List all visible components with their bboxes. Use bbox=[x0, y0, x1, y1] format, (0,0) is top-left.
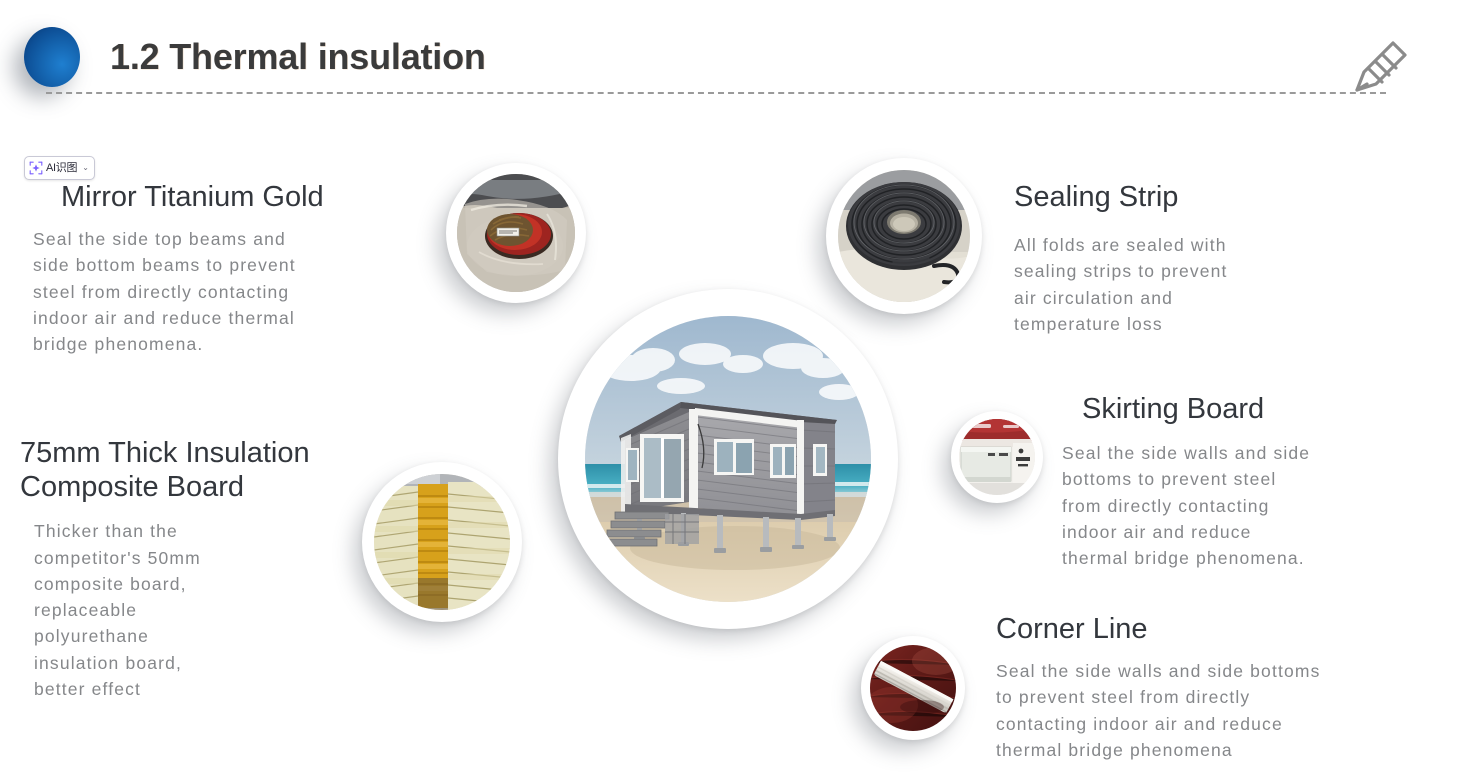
ai-sparkle-icon bbox=[29, 161, 43, 175]
chevron-down-icon[interactable]: ⌄ bbox=[82, 164, 89, 172]
header-bullet-circle bbox=[24, 27, 80, 87]
pencil-icon bbox=[1353, 36, 1417, 96]
insulation-composite-board-stack-photo bbox=[362, 462, 522, 622]
feature-body: Seal the side walls and side bottoms to … bbox=[1062, 440, 1442, 571]
header-divider bbox=[46, 92, 1386, 94]
photo-clip bbox=[457, 174, 575, 292]
feature-title: Sealing Strip bbox=[1014, 180, 1354, 214]
feature-body: All folds are sealed with sealing strips… bbox=[1014, 232, 1354, 337]
photo-clip bbox=[959, 419, 1035, 495]
photo-clip bbox=[585, 316, 871, 602]
corner-line-molding-photo bbox=[861, 636, 965, 740]
feature-block-skirting-board: Skirting Board Seal the side walls and s… bbox=[1062, 392, 1442, 571]
page-title: 1.2 Thermal insulation bbox=[110, 36, 486, 78]
feature-body: Thicker than the competitor's 50mm compo… bbox=[34, 518, 380, 702]
feature-block-sealing-strip: Sealing Strip All folds are sealed with … bbox=[1014, 180, 1354, 337]
feature-body: Seal the side top beams and side bottom … bbox=[33, 226, 433, 357]
skirting-board-product-photo bbox=[951, 411, 1043, 503]
mirror-titanium-gold-coil-photo bbox=[446, 163, 586, 303]
feature-body: Seal the side walls and side bottoms to … bbox=[996, 658, 1456, 763]
feature-block-insulation-composite-board: 75mm Thick Insulation Composite Board Th… bbox=[20, 436, 380, 702]
photo-clip bbox=[870, 645, 956, 731]
photo-clip bbox=[374, 474, 510, 610]
sealing-strip-roll-photo bbox=[826, 158, 982, 314]
feature-block-mirror-titanium-gold: Mirror Titanium Gold Seal the side top b… bbox=[33, 180, 433, 357]
prefab-beach-house-photo bbox=[558, 289, 898, 629]
ai-image-recognition-badge[interactable]: AI识图 ⌄ bbox=[24, 156, 95, 180]
slide-canvas: 1.2 Thermal insulation bbox=[0, 0, 1459, 773]
ai-badge-label: AI识图 bbox=[46, 163, 77, 174]
feature-title: Skirting Board bbox=[1082, 392, 1442, 426]
photo-clip bbox=[838, 170, 970, 302]
feature-title: 75mm Thick Insulation Composite Board bbox=[20, 436, 380, 504]
feature-title: Mirror Titanium Gold bbox=[61, 180, 433, 214]
feature-title: Corner Line bbox=[996, 612, 1456, 646]
feature-block-corner-line: Corner Line Seal the side walls and side… bbox=[996, 612, 1456, 763]
